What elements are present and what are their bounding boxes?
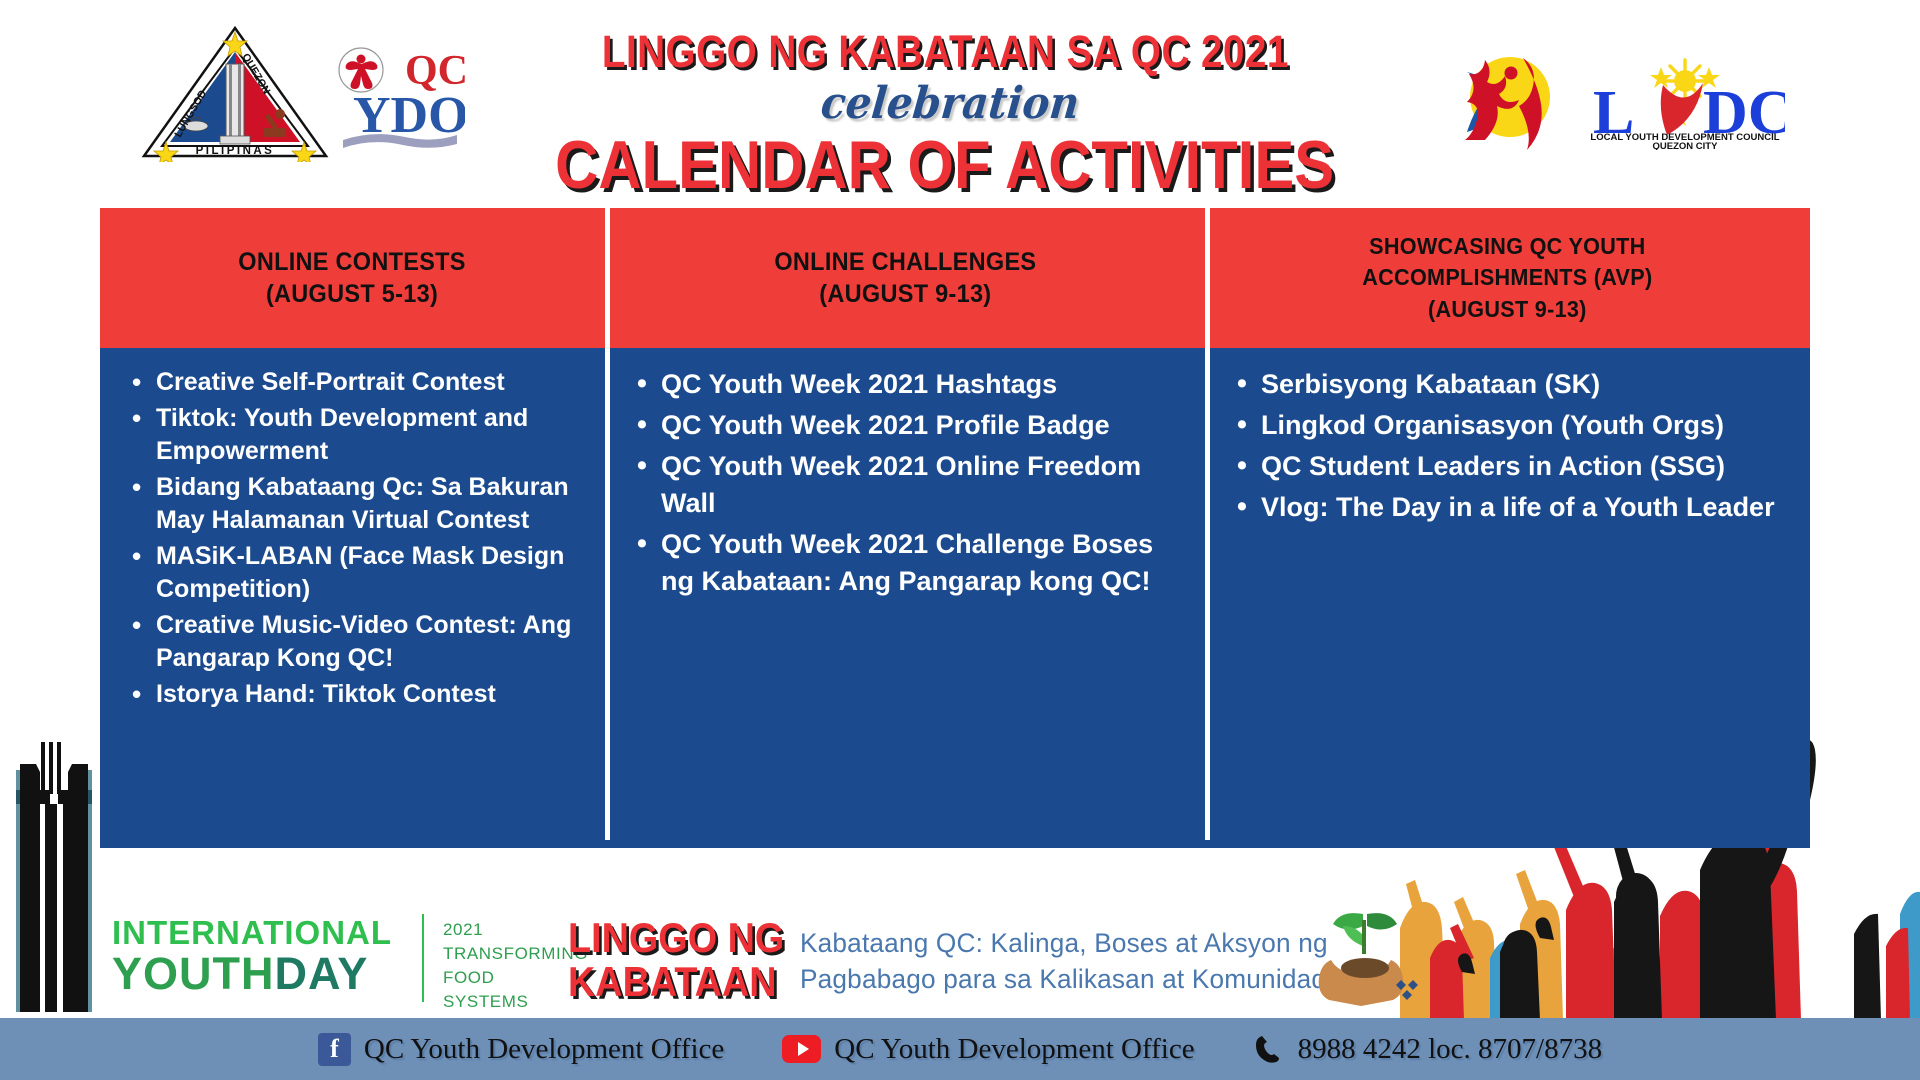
phone-icon: [1253, 1033, 1285, 1065]
poster-title-block: LINGGO NG KABATAAN SA QC 2021celebration…: [470, 26, 1420, 200]
qc-ydo-logo-icon: QC YDO: [335, 40, 465, 150]
header-line: (AUGUST 5-13): [239, 278, 466, 311]
iyd-theme-year: 2021: [443, 918, 573, 942]
iyd-theme-line1: TRANSFORMING: [443, 942, 573, 966]
international-youth-day-logo: INTERNATIONAL YOUTHDAY: [112, 916, 407, 1000]
youtube-icon[interactable]: [782, 1035, 821, 1063]
hands-holding-plant-icon: [1305, 906, 1425, 1006]
calendar-body-row: Creative Self-Portrait Contest Tiktok: Y…: [100, 348, 1810, 848]
iyd-youth-text: YOUTH: [112, 948, 275, 999]
calendar-table: ONLINE CONTESTS (AUGUST 5-13) ONLINE CHA…: [100, 208, 1810, 848]
tagline-line2: Pagbabago para sa Kalikasan at Komunidad: [800, 962, 1343, 998]
contact-footer-bar: f QC Youth Development Office QC Youth D…: [0, 1018, 1920, 1080]
list-item: QC Youth Week 2021 Challenge Boses ng Ka…: [631, 526, 1183, 600]
calendar-header-row: ONLINE CONTESTS (AUGUST 5-13) ONLINE CHA…: [100, 208, 1810, 348]
lydc-logo-icon: L DC LOCAL YOUTH DEVELOPMENT COUNCIL QUE…: [1585, 55, 1785, 150]
svg-text:PILIPINAS: PILIPINAS: [196, 145, 275, 157]
facebook-label: QC Youth Development Office: [364, 1033, 724, 1066]
quezon-city-seal-icon: PILIPINAS LUNGSOD QUEZON: [140, 22, 330, 162]
list-item: Serbisyong Kabataan (SK): [1231, 366, 1788, 403]
column-body-online-challenges: QC Youth Week 2021 Hashtags QC Youth Wee…: [605, 348, 1205, 848]
column-header-showcasing-accomplishments: SHOWCASING QC YOUTH ACCOMPLISHMENTS (AVP…: [1205, 208, 1810, 348]
poster-header: PILIPINAS LUNGSOD QUEZON QC YDO LINGGO N…: [0, 0, 1920, 172]
footer-youtube[interactable]: QC Youth Development Office: [782, 1033, 1194, 1066]
facebook-icon[interactable]: f: [318, 1033, 351, 1066]
footer-phone[interactable]: 8988 4242 loc. 8707/8738: [1253, 1033, 1603, 1066]
iyd-line1: INTERNATIONAL: [112, 916, 407, 949]
list-item: Istorya Hand: Tiktok Contest: [126, 678, 583, 711]
header-line: (AUGUST 9-13): [774, 278, 1036, 311]
column-divider: [605, 208, 610, 820]
header-line: ACCOMPLISHMENTS (AVP): [1362, 262, 1652, 293]
list-item: QC Student Leaders in Action (SSG): [1231, 448, 1788, 485]
iyd-day-text: DAY: [275, 948, 369, 999]
bottom-logo-strip: INTERNATIONAL YOUTHDAY 2021 TRANSFORMING…: [0, 898, 1920, 1018]
column-body-online-contests: Creative Self-Portrait Contest Tiktok: Y…: [100, 348, 605, 848]
footer-facebook[interactable]: f QC Youth Development Office: [318, 1033, 724, 1066]
column-body-showcasing-accomplishments: Serbisyong Kabataan (SK) Lingkod Organis…: [1205, 348, 1810, 848]
list-item: Lingkod Organisasyon (Youth Orgs): [1231, 407, 1788, 444]
youtube-label: QC Youth Development Office: [834, 1033, 1194, 1066]
lnk-line2: KABATAAN: [568, 960, 793, 1004]
list-item: QC Youth Week 2021 Profile Badge: [631, 407, 1183, 444]
list-item: Vlog: The Day in a life of a Youth Leade…: [1231, 489, 1788, 526]
iyd-theme-text: 2021 TRANSFORMING FOOD SYSTEMS: [443, 918, 573, 1015]
header-line: ONLINE CHALLENGES: [774, 246, 1036, 279]
phone-label: 8988 4242 loc. 8707/8738: [1298, 1033, 1603, 1066]
list-item: Bidang Kabataang Qc: Sa Bakuran May Hala…: [126, 471, 583, 537]
linggo-ng-kabataan-wordmark: LINGGO NG KABATAAN: [568, 916, 818, 1003]
list-item: Tiktok: Youth Development and Empowermen…: [126, 402, 583, 468]
header-line: SHOWCASING QC YOUTH: [1362, 231, 1652, 262]
column-divider: [1205, 208, 1210, 820]
list-item: QC Youth Week 2021 Hashtags: [631, 366, 1183, 403]
lydc-subtitle-line2: QUEZON CITY: [1653, 141, 1719, 150]
list-item: QC Youth Week 2021 Online Freedom Wall: [631, 448, 1183, 522]
column-header-online-contests: ONLINE CONTESTS (AUGUST 5-13): [100, 208, 605, 348]
list-item: Creative Music-Video Contest: Ang Pangar…: [126, 609, 583, 675]
iyd-divider: [422, 914, 424, 1002]
sangguniang-kabataan-logo-icon: [1455, 42, 1560, 152]
list-item: Creative Self-Portrait Contest: [126, 366, 583, 399]
poster-title-line2: CALENDAR OF ACTIVITIES: [555, 131, 1334, 200]
list-item: MASiK-LABAN (Face Mask Design Competitio…: [126, 540, 583, 606]
header-line: (AUGUST 9-13): [1362, 294, 1652, 325]
poster-title-line1: LINGGO NG KABATAAN SA QC 2021: [602, 26, 1289, 78]
iyd-theme-line2: FOOD SYSTEMS: [443, 966, 573, 1014]
poster-title-script: celebration: [819, 78, 1082, 129]
column-header-online-challenges: ONLINE CHALLENGES (AUGUST 9-13): [605, 208, 1205, 348]
header-line: ONLINE CONTESTS: [239, 246, 466, 279]
tagline-line1: Kabataang QC: Kalinga, Boses at Aksyon n…: [800, 926, 1343, 962]
lnk-line1: LINGGO NG: [568, 916, 793, 960]
campaign-tagline: Kabataang QC: Kalinga, Boses at Aksyon n…: [800, 926, 1343, 997]
